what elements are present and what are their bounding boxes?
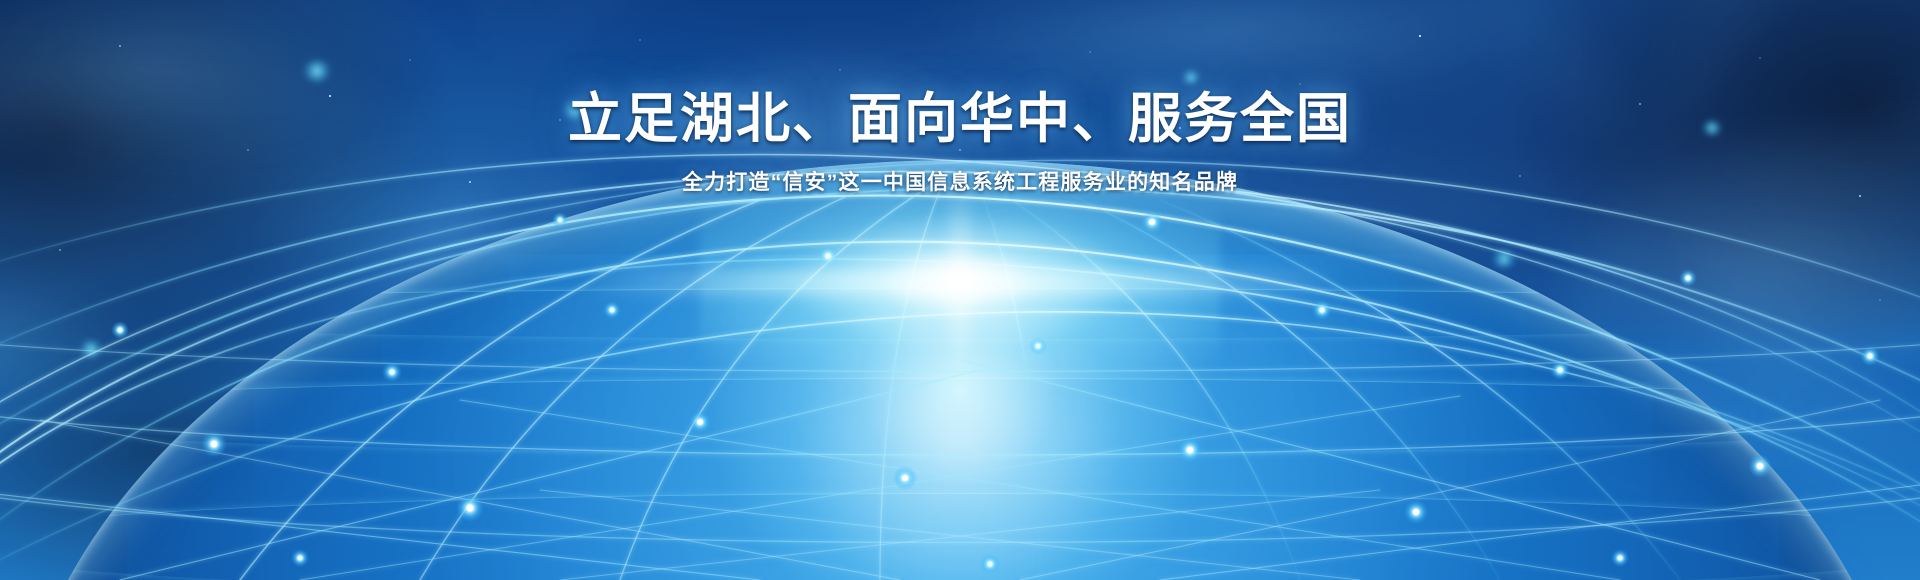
- hero-banner: 立足湖北、面向华中、服务全国 全力打造“信安”这一中国信息系统工程服务业的知名品…: [0, 0, 1920, 580]
- network-connection-mesh: [0, 160, 1920, 580]
- star-cluster-icon: [560, 100, 590, 120]
- star-cluster-icon: [300, 60, 334, 82]
- star-cluster-icon: [1700, 120, 1724, 136]
- star-cluster-icon: [1180, 70, 1202, 85]
